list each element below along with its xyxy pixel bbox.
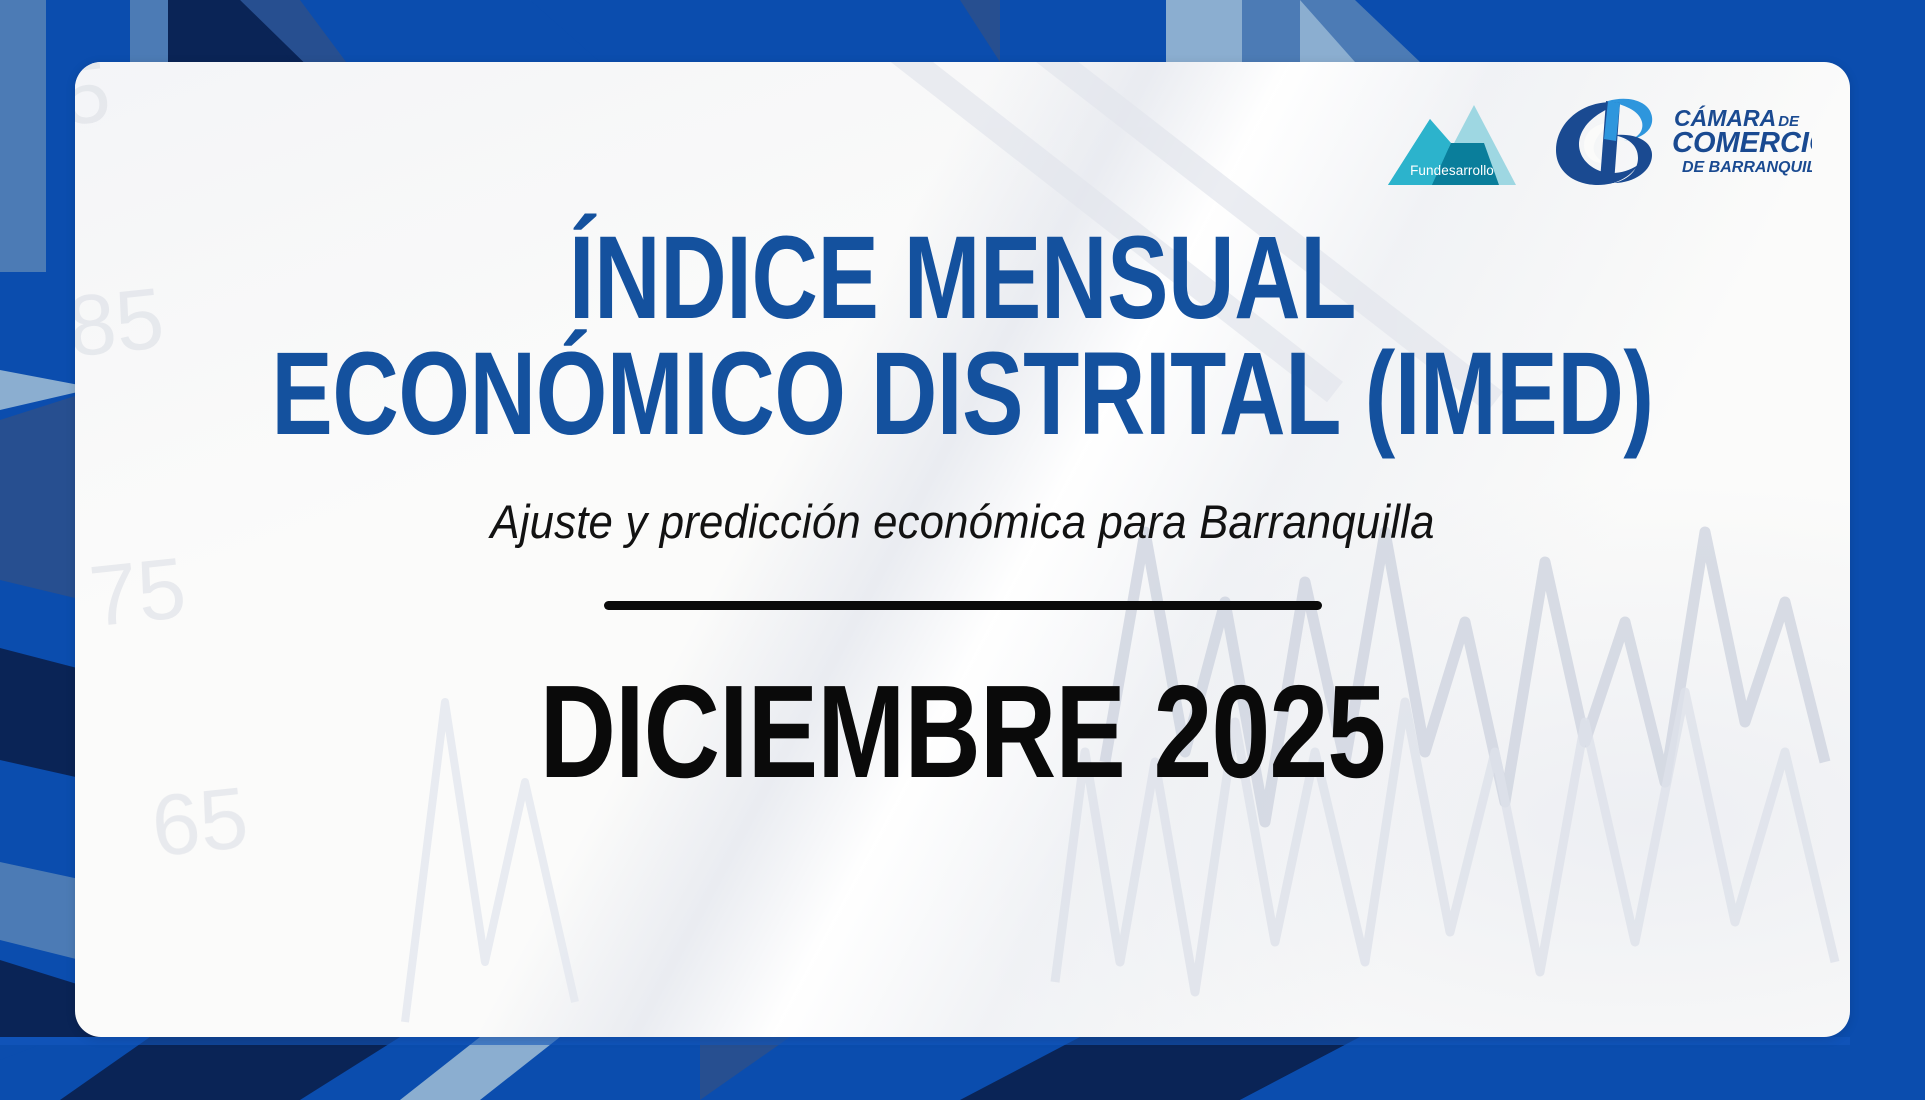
title-divider bbox=[604, 601, 1322, 610]
content-block: ÍNDICE MENSUAL ECONÓMICO DISTRITAL (IMED… bbox=[75, 222, 1850, 798]
camara-comercio-logo: CÁMARADE COMERCIO DE BARRANQUILLA bbox=[1550, 95, 1812, 187]
camara-comercio-wordmark: CÁMARADE COMERCIO DE BARRANQUILLA bbox=[1672, 102, 1812, 180]
camara-comercio-monogram bbox=[1550, 95, 1668, 187]
page-title-line1: ÍNDICE MENSUAL bbox=[270, 222, 1655, 334]
page-subtitle: Ajuste y predicción económica para Barra… bbox=[137, 494, 1788, 549]
ccb-line2: COMERCIO bbox=[1672, 127, 1812, 159]
fundesarrollo-logo: Fundesarrollo bbox=[1388, 97, 1516, 185]
content-card: 85 75 65 5 bbox=[75, 62, 1850, 1037]
ccb-line3: DE BARRANQUILLA bbox=[1682, 159, 1812, 176]
edition-month: DICIEMBRE 2025 bbox=[253, 666, 1673, 798]
poster-root: 85 75 65 5 bbox=[0, 0, 1925, 1100]
logo-group: Fundesarrollo CÁM bbox=[1388, 95, 1812, 187]
fundesarrollo-wordmark: Fundesarrollo bbox=[1410, 163, 1494, 178]
svg-text:5: 5 bbox=[75, 62, 115, 144]
page-title-line2: ECONÓMICO DISTRITAL (IMED) bbox=[270, 338, 1655, 450]
